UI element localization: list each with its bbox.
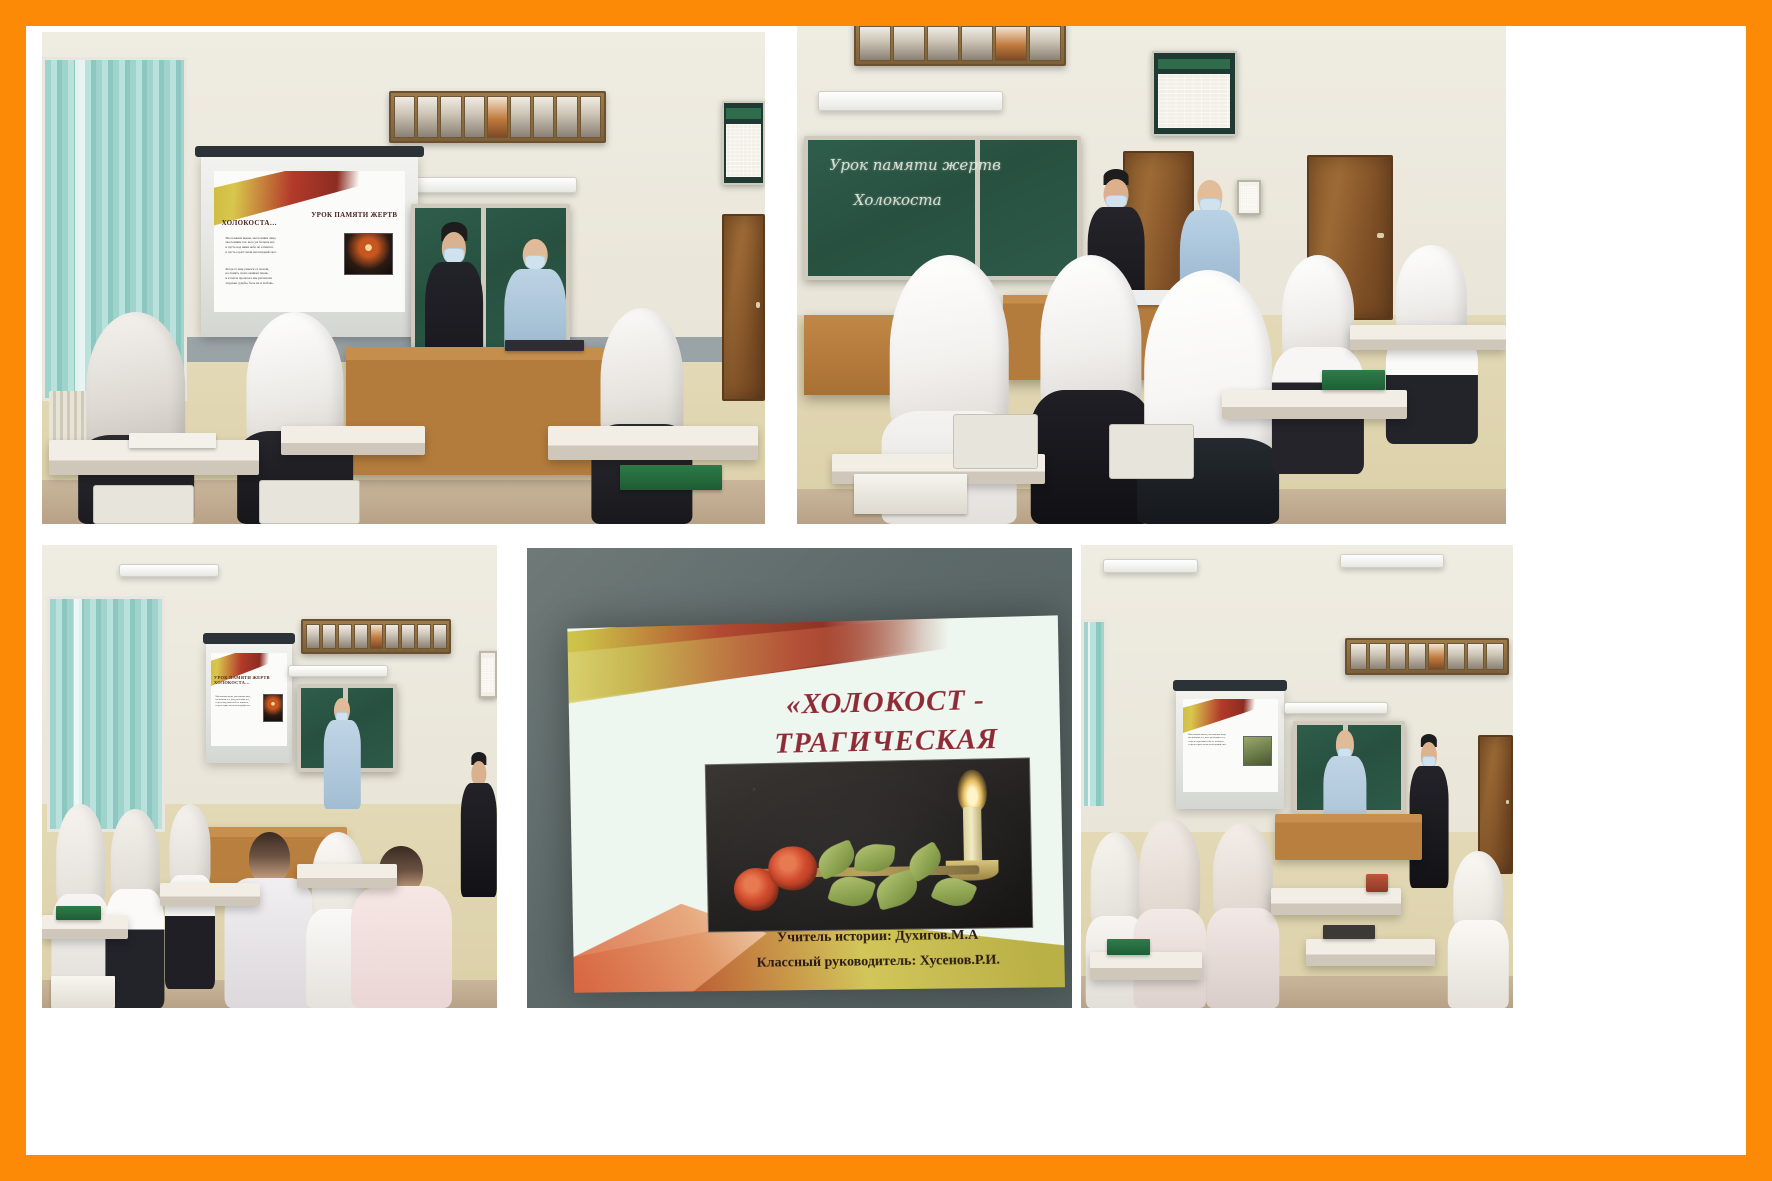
person-teacher-dark-right [461, 758, 497, 897]
open-book [129, 433, 216, 448]
portrait-gallery [1345, 638, 1509, 675]
window-blinds [47, 596, 165, 832]
slide-credits: Учитель истории: Духигов.М.А Классный ру… [718, 921, 1039, 976]
green-books [620, 465, 721, 490]
wall-lamp [1284, 702, 1388, 714]
ceiling-lamp [818, 91, 1002, 111]
notice-header [726, 108, 761, 118]
books-on-desk [505, 340, 585, 352]
student-4 [1448, 851, 1508, 1008]
photo-top-left[interactable]: УРОК ПАМЯТИ ЖЕРТВ ХОЛОКОСТА… Мы помним и… [42, 32, 765, 524]
screen-roller [1173, 680, 1287, 691]
slide-preview: Мы помним имена, мы помним лица, мы помн… [1183, 699, 1278, 792]
notice-table [726, 124, 761, 177]
credit-teacher: Учитель истории: Духигов.М.А [718, 921, 1039, 951]
portrait-gallery [389, 91, 606, 143]
wall-notice-board [722, 101, 765, 185]
slide-memorial-image [705, 757, 1033, 932]
portrait-gallery [854, 26, 1067, 66]
wall-notice-board [479, 651, 497, 697]
presentation-slide: «ХОЛОКОСТ - ТРАГИЧЕСКАЯ СТРАНИЦА ИСТОРИИ… [567, 615, 1064, 992]
slide-paragraph: Мы помним имена, мы помним лица, мы помн… [226, 236, 325, 255]
credit-class-supervisor: Классный руководитель: Хусенов.Р.И. [718, 947, 1039, 976]
torso [324, 720, 360, 809]
ceiling-lamp-2 [1340, 554, 1444, 568]
student-desk-3 [1350, 325, 1506, 350]
notice-header [1158, 59, 1229, 69]
green-books [1322, 370, 1386, 390]
chair-back-1 [93, 485, 194, 524]
slide-title-top: УРОК ПАМЯТИ ЖЕРТВ [311, 211, 397, 219]
photo-bottom-right[interactable]: Мы помним имена, мы помним лица, мы помн… [1081, 545, 1513, 1008]
slide-title-bottom: ХОЛОКОСТА… [214, 680, 250, 685]
slide-title: УРОК ПАМЯТИ ЖЕРТВ ХОЛОКОСТА… [214, 675, 284, 685]
student-desk-2 [1306, 939, 1436, 967]
torso [1206, 908, 1279, 1008]
chair-back-2 [259, 480, 360, 524]
ceiling-lamp [404, 177, 578, 193]
student-desk-2 [1222, 390, 1406, 420]
photo-bottom-center-slide[interactable]: «ХОЛОКОСТ - ТРАГИЧЕСКАЯ СТРАНИЦА ИСТОРИИ… [527, 548, 1072, 1008]
projection-screen: Мы помним имена, мы помним лица, мы помн… [1176, 689, 1284, 809]
student-desk-3 [548, 426, 758, 460]
notebook [1323, 925, 1375, 939]
cup-on-desk [1366, 874, 1388, 893]
slide-candle-image [263, 694, 283, 722]
open-book-front [51, 976, 115, 1008]
blackboard-line-2: Холокоста [854, 191, 942, 209]
torso [351, 886, 451, 1008]
notice-table [482, 658, 494, 692]
torso [461, 783, 497, 897]
slide-title: УРОК ПАМЯТИ ЖЕРТВ ХОЛОКОСТА… [222, 211, 398, 227]
ceiling-lamp-2 [288, 665, 388, 677]
student-4 [1272, 255, 1364, 474]
slide-title-bottom: ХОЛОКОСТА… [222, 219, 277, 227]
notice-table [1158, 74, 1229, 128]
torso [1448, 920, 1508, 1008]
slide-decor-swoosh [1183, 699, 1278, 734]
portrait-gallery [301, 619, 451, 654]
collage-canvas: УРОК ПАМЯТИ ЖЕРТВ ХОЛОКОСТА… Мы помним и… [26, 26, 1746, 1155]
candle [963, 806, 982, 864]
slide-photo [1243, 736, 1272, 766]
rose-2 [768, 846, 817, 890]
student-3 [1206, 823, 1279, 1008]
window-blinds [1081, 619, 1107, 809]
projection-screen: УРОК ПАМЯТИ ЖЕРТВ ХОЛОКОСТА… Мы помним и… [201, 155, 418, 337]
slide-title-line-1: «ХОЛОКОСТ - ТРАГИЧЕСКАЯ [774, 683, 998, 759]
classroom-scene-top-left: УРОК ПАМЯТИ ЖЕРТВ ХОЛОКОСТА… Мы помним и… [42, 32, 765, 524]
slide-candle-image [344, 233, 394, 275]
student-2 [1031, 255, 1152, 524]
collage-frame: УРОК ПАМЯТИ ЖЕРТВ ХОЛОКОСТА… Мы помним и… [0, 0, 1772, 1181]
screen-roller [203, 633, 295, 644]
slide-preview: УРОК ПАМЯТИ ЖЕРТВ ХОЛОКОСТА… Мы помним и… [214, 171, 405, 311]
wall-notice-board [1152, 51, 1237, 136]
student-desk-3 [297, 864, 397, 887]
chair-back-2 [1109, 424, 1194, 479]
student-desk-3 [1090, 952, 1202, 980]
projection-screen: УРОК ПАМЯТИ ЖЕРТВ ХОЛОКОСТА… Мы помним и… [206, 642, 292, 762]
person-teacher-blue [324, 698, 360, 809]
student-desk-2 [160, 883, 260, 906]
chair-back-1 [953, 414, 1038, 469]
teacher-desk [1275, 814, 1422, 860]
slide-paragraph-2: Когда-то мир умылся от печали, но память… [226, 267, 325, 286]
photo-bottom-left[interactable]: УРОК ПАМЯТИ ЖЕРТВ ХОЛОКОСТА… Мы помним и… [42, 545, 497, 1008]
classroom-scene-top-right: Урок памяти жертв Холокоста [797, 26, 1506, 524]
open-book [854, 474, 967, 514]
photo-top-right[interactable]: Урок памяти жертв Холокоста [797, 26, 1506, 524]
student-desk-2 [281, 426, 426, 456]
green-book [56, 906, 102, 920]
classroom-scene-bottom-right: Мы помним имена, мы помним лица, мы помн… [1081, 545, 1513, 1008]
slide-paragraph: Мы помним имена, мы помним лица, мы помн… [1188, 733, 1237, 747]
student-boy-front-1 [224, 832, 315, 1008]
slide-paragraph: Мы помним имена, мы помним лица, мы помн… [216, 696, 256, 709]
student-right [591, 308, 692, 524]
blackboard-line-1: Урок памяти жертв [830, 156, 1001, 174]
door [722, 214, 765, 401]
classroom-scene-bottom-left: УРОК ПАМЯТИ ЖЕРТВ ХОЛОКОСТА… Мы помним и… [42, 545, 497, 1008]
green-book [1107, 939, 1150, 955]
slide-preview: УРОК ПАМЯТИ ЖЕРТВ ХОЛОКОСТА… Мы помним и… [211, 653, 287, 746]
sign-lines [1241, 186, 1257, 209]
small-wall-sign [1237, 180, 1261, 215]
ceiling-lamp-1 [1103, 559, 1198, 573]
screen-roller [195, 146, 425, 157]
ceiling-lamp [119, 564, 219, 578]
